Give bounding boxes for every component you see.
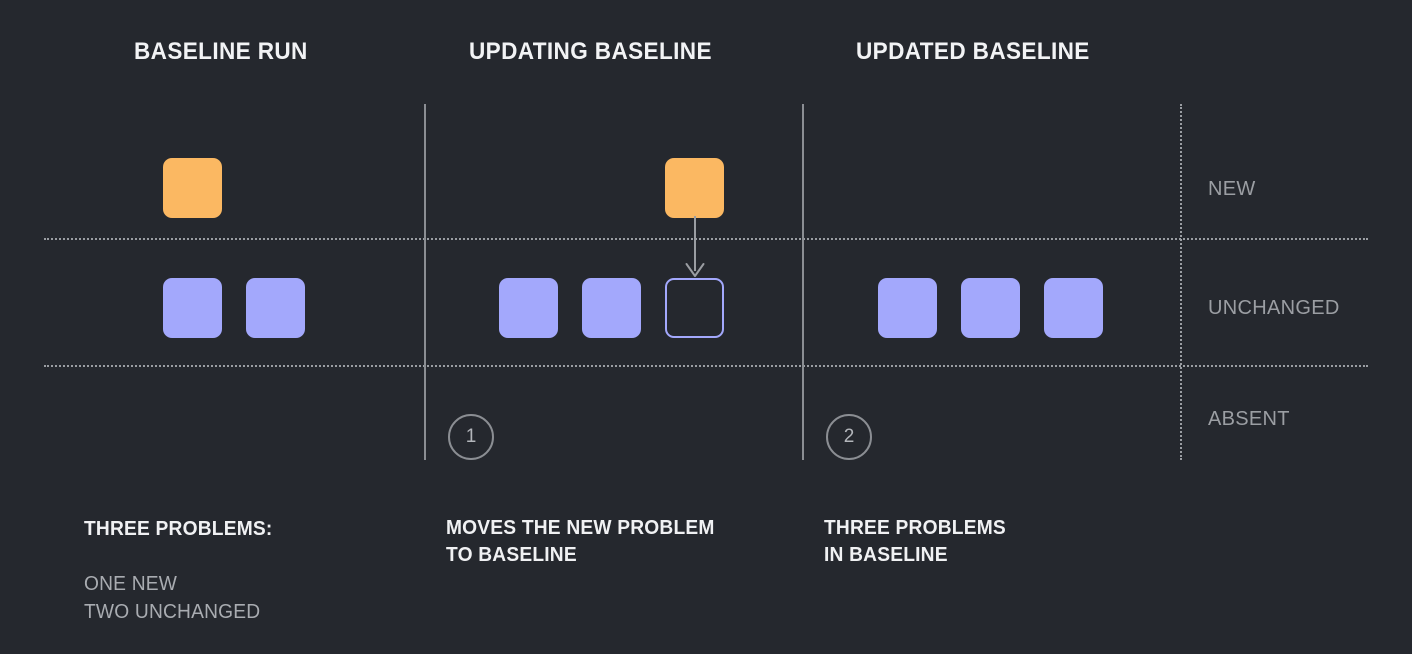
caption-title: MOVES THE NEW PROBLEM TO BASELINE [446,515,715,569]
problem-square-unchanged [499,278,558,338]
caption-subtext: ONE NEW TWO UNCHANGED [84,570,272,626]
caption-baseline-run: THREE PROBLEMS: ONE NEW TWO UNCHANGED [84,498,280,644]
problem-square-unchanged [246,278,305,338]
step-badge-2: 2 [826,414,872,460]
row-label-absent: ABSENT [1208,408,1290,431]
move-arrow [683,216,707,282]
problem-square-unchanged [582,278,641,338]
row-label-unchanged: UNCHANGED [1208,297,1340,320]
problem-square-new [163,158,222,218]
step-badge-1: 1 [448,414,494,460]
column-heading-baseline-run: BASELINE RUN [134,38,308,66]
column-separator-2 [802,104,804,460]
row-divider-unchanged-absent [44,365,1368,367]
column-heading-updated-baseline: UPDATED BASELINE [856,38,1090,66]
diagram-canvas: BASELINE RUN UPDATING BASELINE UPDATED B… [0,0,1412,654]
row-label-new: NEW [1208,178,1256,201]
problem-square-new [665,158,724,218]
problem-square-outline-target [665,278,724,338]
caption-title: THREE PROBLEMS: [84,516,272,543]
step-badge-2-number: 2 [844,426,855,448]
column-separator-1 [424,104,426,460]
row-label-separator [1180,104,1182,460]
caption-title: THREE PROBLEMS IN BASELINE [824,515,1006,569]
caption-updated-baseline: THREE PROBLEMS IN BASELINE [824,497,1013,587]
problem-square-unchanged [878,278,937,338]
problem-square-unchanged [961,278,1020,338]
caption-updating-baseline: MOVES THE NEW PROBLEM TO BASELINE [446,497,726,587]
column-heading-updating-baseline: UPDATING BASELINE [469,38,712,66]
problem-square-unchanged [1044,278,1103,338]
step-badge-1-number: 1 [466,426,477,448]
problem-square-unchanged [163,278,222,338]
